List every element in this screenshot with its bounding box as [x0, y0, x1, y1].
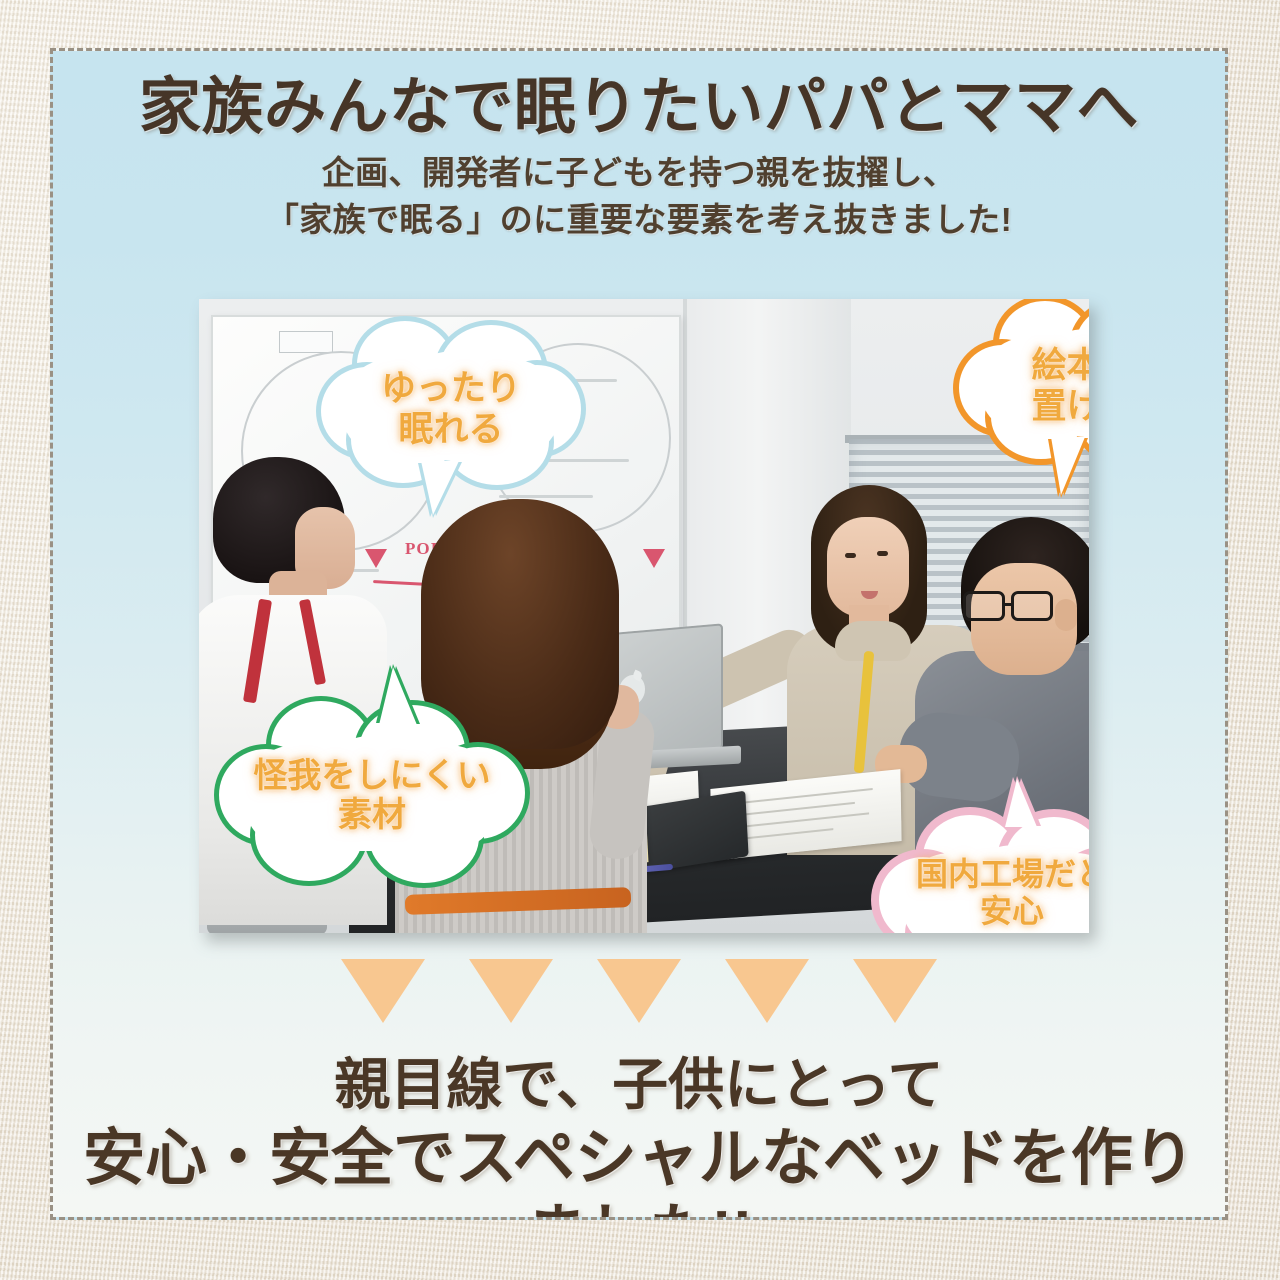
bubble-tail: [379, 667, 417, 725]
header-block: 家族みんなで眠りたいパパとママへ 企画、開発者に子どもを持つ親を抜擢し、 「家族…: [53, 73, 1225, 244]
meeting-photo: POINT: [199, 299, 1089, 933]
whiteboard-arrow-right: [643, 549, 665, 568]
down-arrow-icon: [597, 959, 681, 1023]
speech-bubble-kokunai: 国内工場だと 安心: [879, 805, 1089, 933]
person-pointing-eye-right: [877, 551, 888, 556]
down-arrow-icon: [853, 959, 937, 1023]
eyeglasses-right-lens: [1011, 591, 1053, 621]
speech-bubble-yuttari: ゆったり 眠れる: [321, 321, 581, 499]
person-glasses-ear: [1055, 599, 1077, 631]
down-arrow-icon: [469, 959, 553, 1023]
footer-line-2: 安心・安全でスペシャルなベッドを作りました!!: [53, 1122, 1225, 1220]
eyeglasses-left-lens: [963, 591, 1005, 621]
arrow-row: [53, 959, 1225, 1023]
down-arrow-icon: [725, 959, 809, 1023]
bubble-core: [243, 745, 501, 851]
bubble-core: [979, 337, 1089, 435]
eyeglasses-bridge: [1004, 603, 1014, 606]
footer-block: 親目線で、子供にとって 安心・安全でスペシャルなベッドを作りました!!: [53, 1051, 1225, 1220]
page-title: 家族みんなで眠りたいパパとママへ: [53, 73, 1225, 142]
dashed-frame-panel: 家族みんなで眠りたいパパとママへ 企画、開発者に子どもを持つ親を抜擢し、 「家族…: [50, 48, 1228, 1220]
bubble-tail: [421, 461, 459, 515]
person-pointing-face: [827, 517, 909, 617]
header-subtitle-line-2: 「家族で眠る」のに重要な要素を考え抜きました!: [53, 197, 1225, 244]
bubble-core: [341, 359, 561, 459]
header-subtitle-line-1: 企画、開発者に子どもを持つ親を抜擢し、: [53, 150, 1225, 197]
header-subtitle: 企画、開発者に子どもを持つ親を抜擢し、 「家族で眠る」のに重要な要素を考え抜きま…: [53, 150, 1225, 244]
bubble-tail: [1051, 437, 1085, 495]
speech-bubble-kega: 怪我をしにくい 素材: [219, 701, 525, 891]
footer-line-1: 親目線で、子供にとって: [53, 1051, 1225, 1118]
speech-bubble-ehon: 絵本が 置ける: [959, 301, 1089, 473]
bubble-tail: [1005, 779, 1037, 827]
down-arrow-icon: [341, 959, 425, 1023]
bubble-core: [901, 853, 1089, 933]
whiteboard-arrow-left: [365, 549, 387, 568]
person-pointing-eye-left: [845, 553, 856, 558]
